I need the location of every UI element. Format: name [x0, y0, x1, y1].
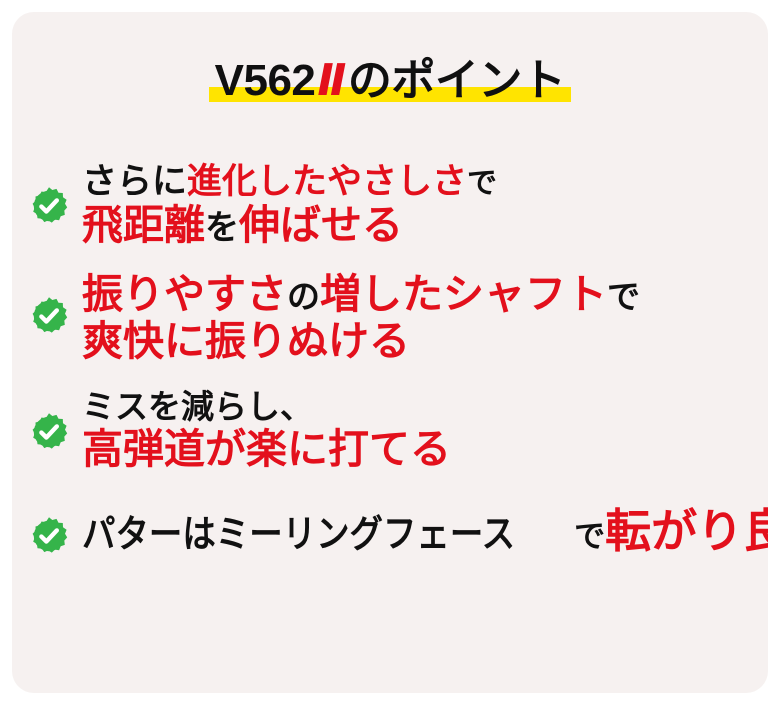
title-text: V562Ⅱのポイント: [215, 56, 566, 105]
title-suffix: のポイント: [348, 56, 566, 105]
list-item-line: パターはミーリングフェースで転がり良し: [82, 508, 768, 554]
text-run: パターはミーリングフェース: [82, 516, 515, 554]
title-roman-numeral: Ⅱ: [315, 56, 347, 105]
title-inner: V562Ⅱのポイント: [209, 56, 572, 105]
list-item: さらに進化したやさしさで 飛距離を伸ばせる: [12, 164, 768, 246]
list-item-line: 振りやすさの増したシャフトで: [82, 274, 768, 315]
list-item: ミスを減らし、 高弾道が楽に打てる: [12, 390, 768, 470]
list-item-line: 飛距離を伸ばせる: [82, 205, 768, 246]
list-item: 振りやすさの増したシャフトで 爽快に振りぬける: [12, 274, 768, 362]
list-item-text: さらに進化したやさしさで 飛距離を伸ばせる: [82, 164, 768, 246]
text-run: で: [607, 278, 640, 315]
text-run-emphasis: 振りやすさ: [82, 271, 287, 317]
green-check-badge-icon: [29, 516, 69, 556]
list-item-line: 高弾道が楽に打てる: [82, 429, 768, 470]
title-model: V562: [215, 56, 316, 105]
bullet-list: さらに進化したやさしさで 飛距離を伸ばせる 振りやすさの増したシャフトで 爽快に…: [12, 152, 768, 560]
text-run: で: [467, 167, 497, 200]
text-run-emphasis: 高弾道が楽に打てる: [82, 426, 451, 472]
text-run: さらに: [82, 162, 187, 201]
text-run-emphasis: 転がり良し: [605, 505, 768, 557]
text-run: を: [205, 209, 239, 247]
text-run-emphasis: 爽快に振りぬける: [82, 318, 410, 364]
list-item-line: ミスを減らし、: [82, 390, 768, 423]
text-run: の: [287, 278, 320, 315]
list-item-text: ミスを減らし、 高弾道が楽に打てる: [82, 390, 768, 470]
text-run-emphasis: 進化したやさしさ: [187, 162, 467, 201]
text-run-emphasis: 伸ばせる: [239, 202, 403, 248]
green-check-badge-icon: [29, 296, 69, 336]
list-item: パターはミーリングフェースで転がり良し: [12, 508, 768, 554]
list-item-text: 振りやすさの増したシャフトで 爽快に振りぬける: [82, 274, 768, 362]
green-check-badge-icon: [29, 412, 69, 452]
list-item-line: さらに進化したやさしさで: [82, 164, 768, 199]
text-run-emphasis: 増したシャフト: [320, 271, 607, 317]
promo-card: V562Ⅱのポイント さらに進化したやさしさで 飛距離を伸ばせる: [12, 12, 768, 693]
text-run: で: [574, 519, 605, 554]
text-run-emphasis: 飛距離: [82, 202, 205, 248]
text-run: ミスを減らし、: [82, 388, 313, 425]
list-item-text: パターはミーリングフェースで転がり良し: [82, 508, 768, 554]
green-check-badge-icon: [29, 186, 69, 226]
page-title: V562Ⅱのポイント: [12, 56, 768, 105]
list-item-line: 爽快に振りぬける: [82, 321, 768, 362]
